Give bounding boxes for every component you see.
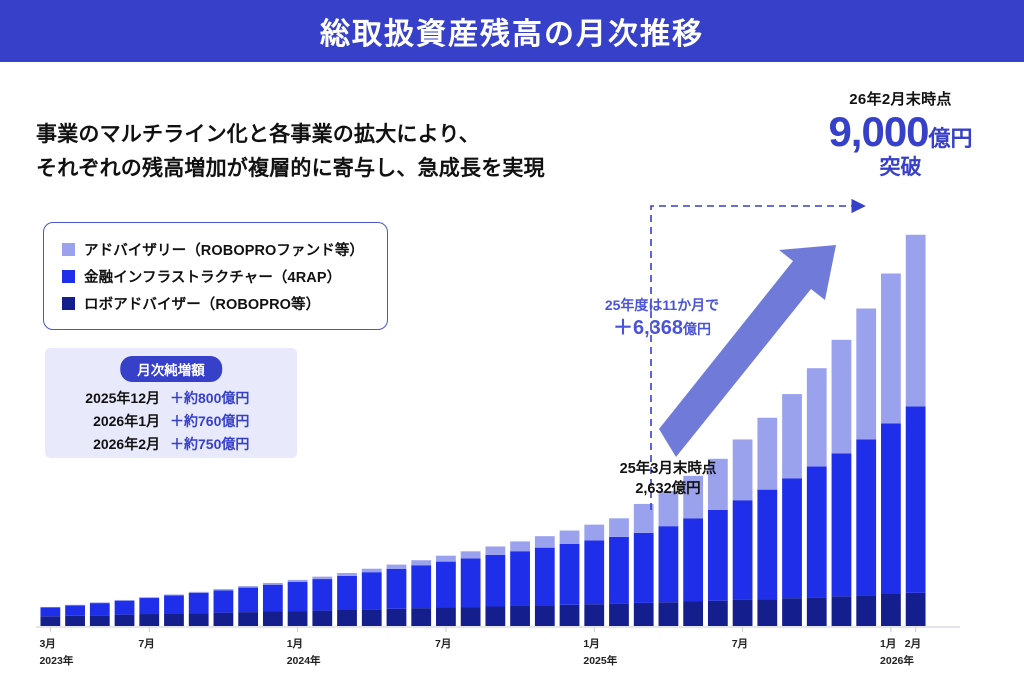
growth-span-note: 25年度は11か月で ＋6,368億円 [572,296,752,342]
x-axis-label-month: 2月 [905,638,921,650]
x-axis-label-month: 1月 [583,638,599,650]
slide-root: 総取扱資産残高の月次推移 事業のマルチライン化と各事業の拡大により、 それぞれの… [0,0,1024,683]
callout-main-line: 9,000億円 [793,111,1008,153]
callout-subtitle: 26年2月末時点 [793,88,1008,109]
x-axis-label: 7月 [435,636,451,651]
growth-span-note-line2: ＋6,368億円 [572,315,752,342]
x-axis-label-month: 3月 [39,638,55,650]
callout-unit: 億円 [929,126,973,151]
growth-span-plus: ＋ [613,317,633,339]
baseline-note-line2: 2,632億円 [588,480,748,500]
x-axis-label: 1月2025年 [583,636,617,668]
callout-breakthrough: 突破 [793,151,1008,181]
callout-number: 9,000 [828,108,928,155]
baseline-note-line1: 25年3月末時点 [588,460,748,480]
growth-span-value: 6,368 [633,317,683,339]
x-axis-label-year: 2024年 [287,653,321,668]
x-axis-label-month: 7月 [435,638,451,650]
x-axis-label-month: 7月 [732,638,748,650]
x-axis-label: 7月 [138,636,154,651]
growth-span-note-line1: 25年度は11か月で [572,296,752,315]
x-axis-label-year: 2026年 [880,653,914,668]
x-axis-label-year: 2023年 [39,653,73,668]
x-axis-label: 1月2024年 [287,636,321,668]
x-axis-label-year: 2025年 [583,653,617,668]
x-axis-label: 3月2023年 [39,636,73,668]
x-axis-label-month: 1月 [287,638,303,650]
growth-span-unit: 億円 [683,321,711,337]
x-axis-label: 2月 [905,636,921,651]
baseline-marker-note: 25年3月末時点 2,632億円 [588,460,748,499]
x-axis-label: 7月 [732,636,748,651]
headline-callout: 26年2月末時点 9,000億円 突破 [793,88,1008,181]
x-axis-label-month: 1月 [880,638,896,650]
x-axis-label-month: 7月 [138,638,154,650]
